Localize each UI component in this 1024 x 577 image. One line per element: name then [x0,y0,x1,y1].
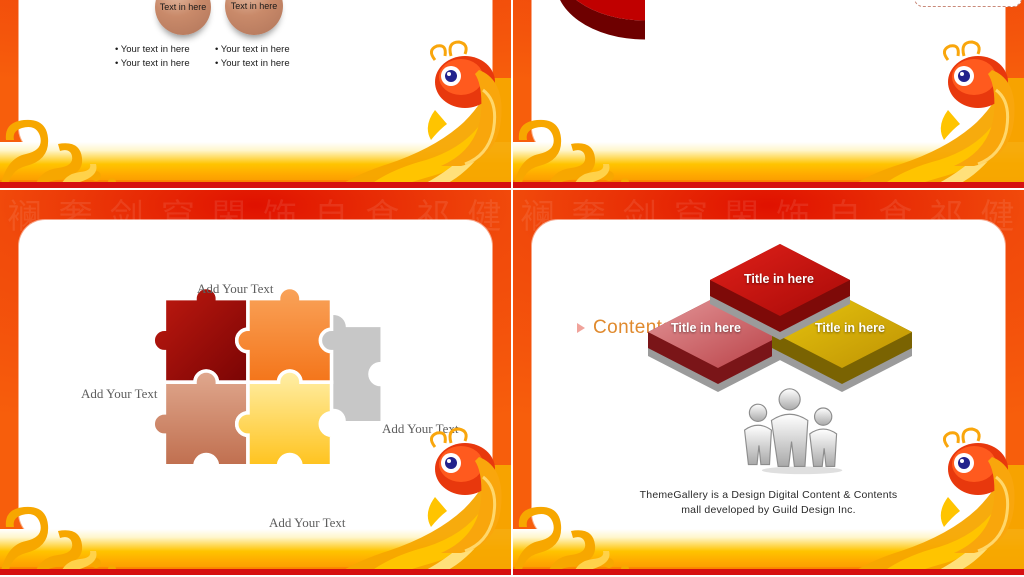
puzzle-piece-top-right [237,287,332,382]
block-right-label: Title in here [815,321,885,335]
red-footer-bar [513,569,1024,575]
callout-box[interactable]: 38% Description of the company’s produ c… [914,0,1022,7]
pie-chart[interactable]: 90 20.4 20.4 38 38% Description of the c… [550,0,950,103]
slide-pie[interactable]: 襕奢剑窅閑饰自食祁健 [513,0,1024,188]
circle-label: Text in here [160,2,207,13]
red-footer-bar [0,569,511,575]
koi-fish-icon [421,40,505,166]
block-top-label: Title in here [744,272,814,286]
puzzle-piece-top-left [153,287,248,382]
puzzle-piece-bottom-right [237,371,332,466]
bullet-group: • Your text in here • Your text in here [215,43,290,71]
slide-circles[interactable]: 襕奢剑窅閑饰自食祁健 here here Text in here Text i… [0,0,511,188]
bullet-line: Your text in here [121,44,190,55]
slide-gutter-vertical [511,0,513,577]
circle-node[interactable]: Text in here [225,0,283,35]
triangle-right-icon [577,323,585,333]
bullet-group: • Your text in here • Your text in here [377,0,452,3]
koi-fish-icon [421,427,505,553]
bullet-line: Your text in here [121,58,190,69]
bullet-line: Your text in here [221,44,290,55]
circle-label: Text in here [231,1,278,12]
bullet-line: Your text in here [221,58,290,69]
slide-grid: 襕奢剑窅閑饰自食祁健 here here Text in here Text i… [0,0,1024,577]
pie-slice-38[interactable] [764,0,934,21]
pie-slice-90[interactable] [550,0,740,46]
block-left-label: Title in here [671,321,741,335]
bullet-group: • Your text in here • Your text in here [115,43,190,71]
slide-puzzle[interactable]: 襕奢剑窅閑饰自食祁健 [0,190,511,575]
slide-gutter-horizontal [0,188,1024,190]
puzzle-label: Add Your Text [197,281,274,297]
puzzle-piece-bottom-left [153,371,248,466]
puzzle-diagram[interactable] [144,280,409,515]
puzzle-label: Add Your Text [81,386,158,402]
people-group-icon [735,387,850,475]
koi-fish-icon [934,40,1018,166]
circle-node[interactable]: Text in here [155,0,211,35]
bullet-line: Your text in here [383,0,452,1]
koi-fish-icon [934,427,1018,553]
slide-blocks[interactable]: 襕奢剑窅閑饰自食祁健 Contents [513,190,1024,575]
